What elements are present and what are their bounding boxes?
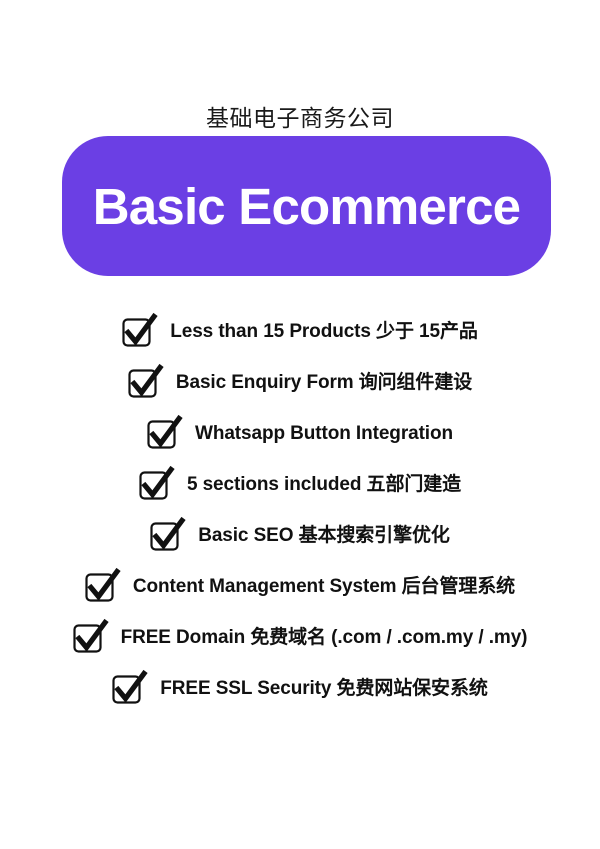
feature-label: FREE SSL Security 免费网站保安系统 (160, 677, 488, 701)
feature-item: Less than 15 Products 少于 15产品 (122, 306, 478, 357)
feature-item: FREE Domain 免费域名 (.com / .com.my / .my) (73, 612, 528, 663)
feature-label: Content Management System 后台管理系统 (133, 575, 515, 599)
feature-label: FREE Domain 免费域名 (.com / .com.my / .my) (121, 626, 528, 650)
feature-label: Whatsapp Button Integration (195, 422, 453, 446)
feature-item: 5 sections included 五部门建造 (139, 459, 461, 510)
checkbox-checked-icon (85, 572, 115, 602)
feature-label: Basic SEO 基本搜索引擎优化 (198, 524, 450, 548)
feature-item: Content Management System 后台管理系统 (85, 561, 515, 612)
checkbox-checked-icon (112, 674, 142, 704)
checkbox-checked-icon (73, 623, 103, 653)
plan-subtitle: 基础电子商务公司 (0, 104, 600, 132)
feature-item: Basic Enquiry Form 询问组件建设 (128, 357, 472, 408)
plan-title-banner: Basic Ecommerce (62, 136, 551, 276)
feature-item: Basic SEO 基本搜索引擎优化 (150, 510, 450, 561)
checkbox-checked-icon (147, 419, 177, 449)
checkbox-checked-icon (150, 521, 180, 551)
feature-label: Basic Enquiry Form 询问组件建设 (176, 371, 472, 395)
checkbox-checked-icon (128, 368, 158, 398)
feature-item: FREE SSL Security 免费网站保安系统 (112, 663, 488, 714)
feature-item: Whatsapp Button Integration (147, 408, 453, 459)
pricing-plan-card: 基础电子商务公司 Basic Ecommerce Less than 15 Pr… (0, 0, 600, 849)
checkbox-checked-icon (139, 470, 169, 500)
feature-label: Less than 15 Products 少于 15产品 (170, 320, 478, 344)
plan-title: Basic Ecommerce (93, 181, 520, 232)
checkbox-checked-icon (122, 317, 152, 347)
feature-list: Less than 15 Products 少于 15产品 Basic Enqu… (0, 306, 600, 714)
feature-label: 5 sections included 五部门建造 (187, 473, 461, 497)
